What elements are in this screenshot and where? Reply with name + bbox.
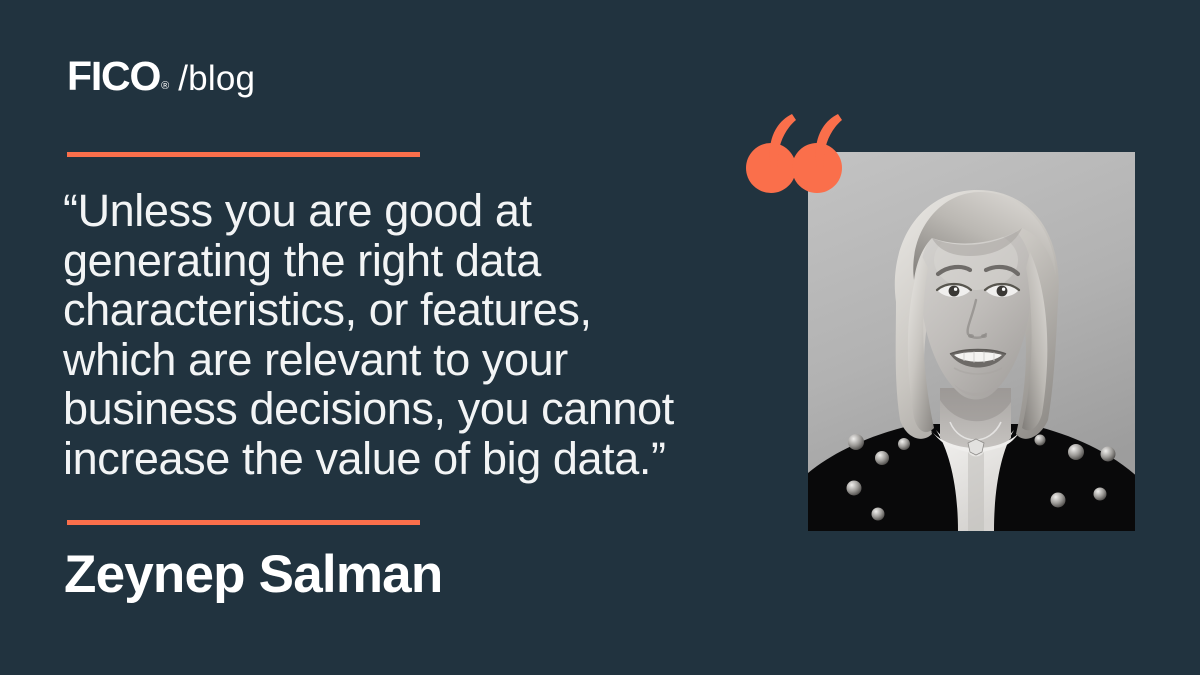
portrait-image (808, 152, 1135, 531)
quote-line: increase the value of big data.” (63, 434, 743, 484)
brand-name: FICO (67, 56, 160, 97)
author-portrait (808, 152, 1135, 531)
quote-card: FICO®/blog “Unless you are good at gener… (0, 0, 1200, 675)
divider-top (67, 152, 420, 157)
decorative-quote-mark-icon (746, 112, 842, 198)
quote-line: which are relevant to your (63, 335, 743, 385)
quote-mark-glyph (746, 112, 842, 198)
quote-line: characteristics, or features, (63, 285, 743, 335)
divider-bottom (67, 520, 420, 525)
quote-line: business decisions, you cannot (63, 384, 743, 434)
quote-line: generating the right data (63, 236, 743, 286)
registered-trademark-icon: ® (161, 81, 169, 92)
brand-logo[interactable]: FICO®/blog (67, 56, 255, 97)
quote-text: “Unless you are good at generating the r… (63, 186, 743, 483)
author-name: Zeynep Salman (64, 548, 442, 601)
brand-section-label: /blog (178, 61, 255, 96)
quote-line: “Unless you are good at (63, 186, 743, 236)
